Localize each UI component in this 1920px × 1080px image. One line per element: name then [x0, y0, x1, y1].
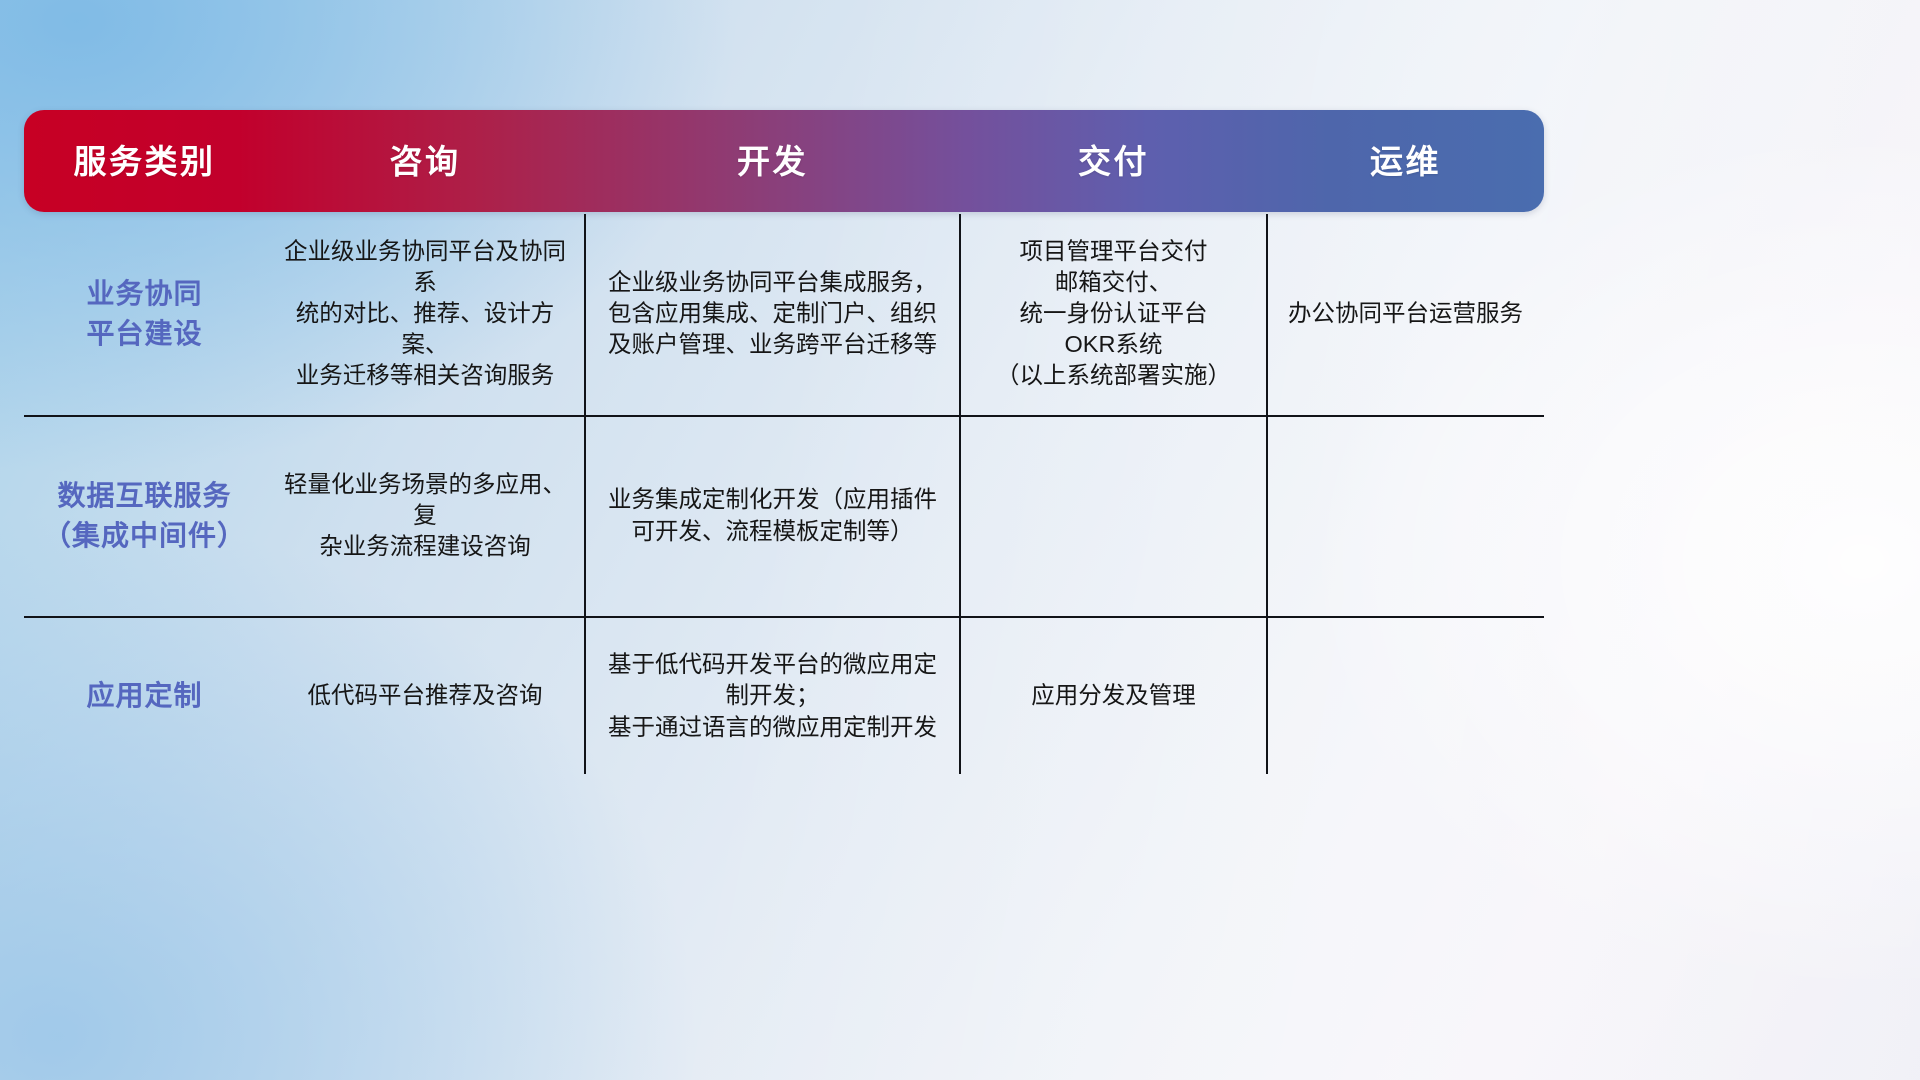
table-header-row: 服务类别 咨询 开发 交付 运维: [24, 110, 1544, 212]
cell-row0-development: 企业级业务协同平台集成服务， 包含应用集成、定制门户、组织 及账户管理、业务跨平…: [585, 212, 960, 415]
cell-row1-development: 业务集成定制化开发（应用插件 可开发、流程模板定制等）: [585, 415, 960, 616]
column-divider-3: [1266, 214, 1268, 774]
cell-row2-consulting: 低代码平台推荐及咨询: [265, 616, 585, 776]
column-header-category: 服务类别: [24, 145, 265, 178]
column-header-delivery: 交付: [960, 145, 1267, 178]
table-body: 业务协同 平台建设 企业级业务协同平台及协同系 统的对比、推荐、设计方案、 业务…: [24, 212, 1544, 776]
cell-row1-operations: [1267, 415, 1544, 616]
table-row: 业务协同 平台建设 企业级业务协同平台及协同系 统的对比、推荐、设计方案、 业务…: [24, 212, 1544, 415]
cell-row0-consulting: 企业级业务协同平台及协同系 统的对比、推荐、设计方案、 业务迁移等相关咨询服务: [265, 212, 585, 415]
service-category-table: 服务类别 咨询 开发 交付 运维 业务协同 平台建设 企业级业务协同平台及协同系…: [24, 110, 1544, 776]
row-label-business-collaboration: 业务协同 平台建设: [24, 212, 265, 415]
cell-row0-operations: 办公协同平台运营服务: [1267, 212, 1544, 415]
column-header-development: 开发: [585, 145, 960, 178]
cell-row2-development: 基于低代码开发平台的微应用定 制开发； 基于通过语言的微应用定制开发: [585, 616, 960, 776]
table-row: 应用定制 低代码平台推荐及咨询 基于低代码开发平台的微应用定 制开发； 基于通过…: [24, 616, 1544, 776]
column-header-consulting: 咨询: [265, 145, 585, 178]
column-divider-2: [959, 214, 961, 774]
row-divider-1: [24, 415, 1544, 417]
cell-row1-consulting: 轻量化业务场景的多应用、复 杂业务流程建设咨询: [265, 415, 585, 616]
cell-row2-delivery: 应用分发及管理: [960, 616, 1267, 776]
row-divider-2: [24, 616, 1544, 618]
cell-row0-delivery: 项目管理平台交付 邮箱交付、 统一身份认证平台 OKR系统 （以上系统部署实施）: [960, 212, 1267, 415]
cell-row2-operations: [1267, 616, 1544, 776]
column-divider-1: [584, 214, 586, 774]
row-label-data-integration: 数据互联服务 （集成中间件）: [24, 415, 265, 616]
row-label-app-customization: 应用定制: [24, 616, 265, 776]
column-header-operations: 运维: [1267, 145, 1544, 178]
cell-row1-delivery: [960, 415, 1267, 616]
table-row: 数据互联服务 （集成中间件） 轻量化业务场景的多应用、复 杂业务流程建设咨询 业…: [24, 415, 1544, 616]
